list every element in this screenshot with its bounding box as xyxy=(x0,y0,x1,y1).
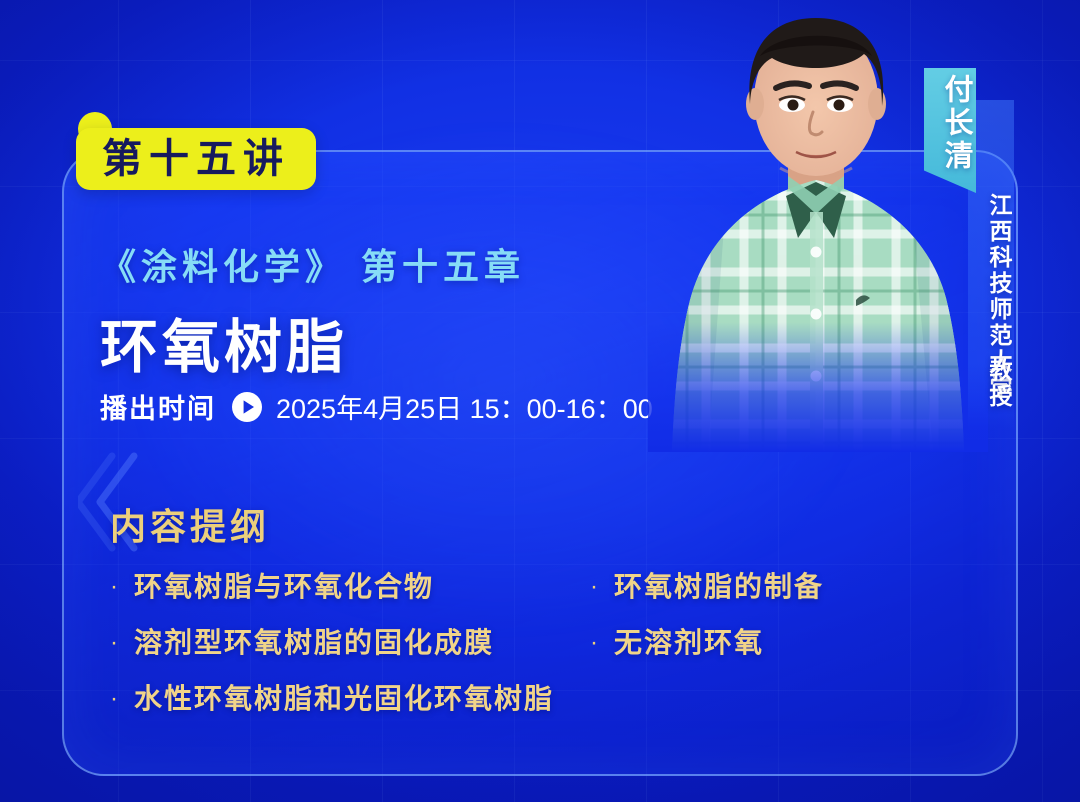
outline-item-label: 溶剂型环氧树脂的固化成膜 xyxy=(134,626,494,660)
bullet-icon: · xyxy=(590,570,598,604)
speaker-name: 付长清 xyxy=(932,74,970,173)
bullet-icon: · xyxy=(110,682,118,716)
list-item: · 溶剂型环氧树脂的固化成膜 xyxy=(110,626,580,682)
outline-item-label: 无溶剂环氧 xyxy=(614,626,764,660)
play-icon[interactable] xyxy=(231,391,263,423)
outline-column-right: · 环氧树脂的制备 · 无溶剂环氧 xyxy=(590,570,940,738)
list-item: · 环氧树脂的制备 xyxy=(590,570,940,626)
outline-column-left: · 环氧树脂与环氧化合物 · 溶剂型环氧树脂的固化成膜 · 水性环氧树脂和光固化… xyxy=(110,570,580,738)
page-title: 环氧树脂 xyxy=(100,300,348,384)
outline-heading: 内容提纲 xyxy=(110,498,270,550)
outline-item-label: 环氧树脂与环氧化合物 xyxy=(134,570,434,604)
airtime-value: 2025年4月25日 15：00-16：00 xyxy=(276,387,653,426)
lecture-badge: 第十五讲 xyxy=(76,128,316,190)
speaker-role: 教授 xyxy=(974,358,1010,410)
lecture-badge-label: 第十五讲 xyxy=(102,139,290,179)
outline-item-label: 环氧树脂的制备 xyxy=(614,570,824,604)
list-item: · 水性环氧树脂和光固化环氧树脂 xyxy=(110,682,580,738)
airtime-label: 播出时间 xyxy=(100,387,216,426)
airtime-row: 播出时间 2025年4月25日 15：00-16：00 xyxy=(100,387,653,426)
lecture-poster: 江西科技师范大学 教授 付长清 第十五讲 《涂料化学》 第十五章 环氧树脂 播出… xyxy=(0,0,1080,802)
outline-item-label: 水性环氧树脂和光固化环氧树脂 xyxy=(134,682,554,716)
speaker-portrait xyxy=(648,0,988,452)
list-item: · 环氧树脂与环氧化合物 xyxy=(110,570,580,626)
portrait-bottom-fade xyxy=(648,322,988,452)
bullet-icon: · xyxy=(110,570,118,604)
bullet-icon: · xyxy=(110,626,118,660)
bullet-icon: · xyxy=(590,626,598,660)
list-item: · 无溶剂环氧 xyxy=(590,626,940,682)
course-subtitle: 《涂料化学》 第十五章 xyxy=(100,238,525,290)
outline-columns: · 环氧树脂与环氧化合物 · 溶剂型环氧树脂的固化成膜 · 水性环氧树脂和光固化… xyxy=(110,570,940,738)
